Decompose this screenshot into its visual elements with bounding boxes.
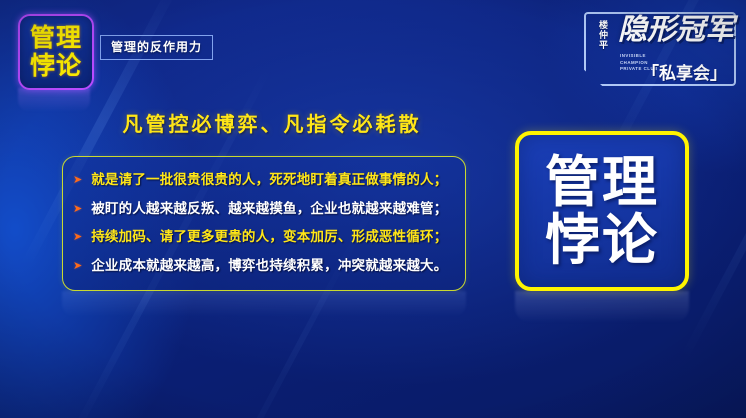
bullet-list-card: ➤ 就是请了一批很贵很贵的人，死死地盯着真正做事情的人； ➤ 被盯的人越来越反叛…	[62, 156, 466, 291]
subtitle-label: 管理的反作用力	[100, 35, 213, 60]
slide-root: 管理 悖论 管理的反作用力 楼 仲 平 隐形冠军 INVISIBLE CHAMP…	[0, 0, 746, 418]
bullet-card-reflection	[62, 291, 466, 317]
arrow-right-icon: ➤	[73, 261, 82, 272]
brand-badge-reflection	[18, 88, 90, 112]
keyword-panel-line-1: 管理	[545, 154, 659, 210]
logo-sub-text: 「私享会」	[642, 65, 727, 82]
logo-main-text: 隐形冠军	[618, 16, 734, 45]
list-item: ➤ 就是请了一批很贵很贵的人，死死地盯着真正做事情的人；	[73, 173, 453, 188]
list-item-label: 企业成本就越来越高，博弈也持续积累，冲突就越来越大。	[91, 259, 447, 274]
logo-vertical-char-2: 仲	[599, 30, 608, 40]
brand-badge: 管理 悖论	[18, 14, 94, 90]
logo-vertical-char-3: 平	[599, 40, 608, 50]
brand-badge-line-1: 管理	[30, 25, 82, 52]
logo-vertical-char-1: 楼	[599, 20, 608, 30]
keyword-panel: 管理 悖论	[515, 131, 689, 291]
page-title: 凡管控必博弈、凡指令必耗散	[62, 113, 482, 137]
organization-logo: 楼 仲 平 隐形冠军 INVISIBLE CHAMPION PRIVATE CL…	[584, 12, 736, 86]
arrow-right-icon: ➤	[73, 175, 82, 186]
list-item-label: 被盯的人越来越反叛、越来越摸鱼，企业也就越来越难管；	[91, 202, 447, 217]
keyword-panel-line-2: 悖论	[545, 212, 659, 268]
arrow-right-icon: ➤	[73, 232, 82, 243]
background-light-streak	[681, 109, 746, 360]
logo-vertical-name: 楼 仲 平	[595, 20, 612, 50]
brand-badge-line-2: 悖论	[30, 53, 82, 80]
list-item-label: 持续加码、请了更多更贵的人，变本加厉、形成恶性循环；	[91, 230, 447, 245]
list-item-label: 就是请了一批很贵很贵的人，死死地盯着真正做事情的人；	[91, 173, 447, 188]
list-item: ➤ 被盯的人越来越反叛、越来越摸鱼，企业也就越来越难管；	[73, 202, 453, 217]
logo-english-line-1: INVISIBLE	[620, 53, 658, 60]
list-item: ➤ 企业成本就越来越高，博弈也持续积累，冲突就越来越大。	[73, 259, 453, 274]
list-item: ➤ 持续加码、请了更多更贵的人，变本加厉、形成恶性循环；	[73, 230, 453, 245]
arrow-right-icon: ➤	[73, 204, 82, 215]
keyword-panel-reflection	[515, 291, 689, 323]
